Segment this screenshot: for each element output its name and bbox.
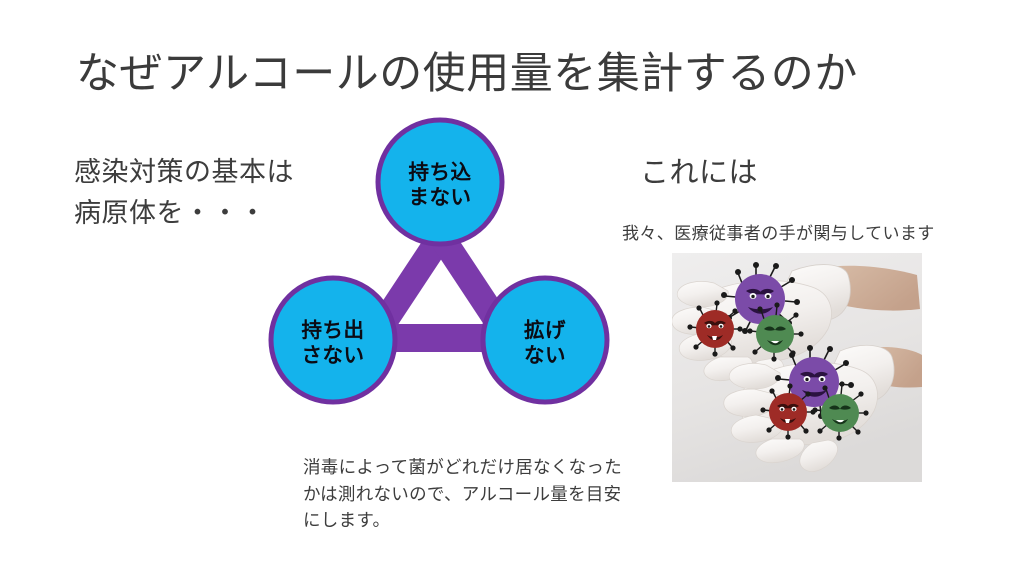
right-heading: これには bbox=[640, 155, 758, 193]
right-subtitle: 我々、医療従事者の手が関与しています bbox=[622, 219, 935, 244]
slide-canvas: なぜアルコールの使用量を集計するのか 感染対策の基本は 病原体を・・・ 持ち込 … bbox=[0, 0, 1024, 576]
node-circle-right[interactable] bbox=[483, 278, 607, 402]
node-circle-left[interactable] bbox=[271, 278, 395, 402]
page-title: なぜアルコールの使用量を集計するのか bbox=[76, 50, 858, 99]
infection-control-triangle-diagram: 持ち込 まない 持ち出 さない 拡げ ない bbox=[258, 112, 624, 412]
diagram-svg bbox=[258, 112, 624, 412]
gloved-hands-illustration bbox=[672, 253, 922, 482]
node-circle-top[interactable] bbox=[378, 120, 502, 244]
bottom-caption: 消毒によって菌がどれだけ居なくなったかは測れないので、アルコール量を目安にします… bbox=[303, 454, 633, 534]
gloved-hands-photo bbox=[672, 253, 922, 482]
